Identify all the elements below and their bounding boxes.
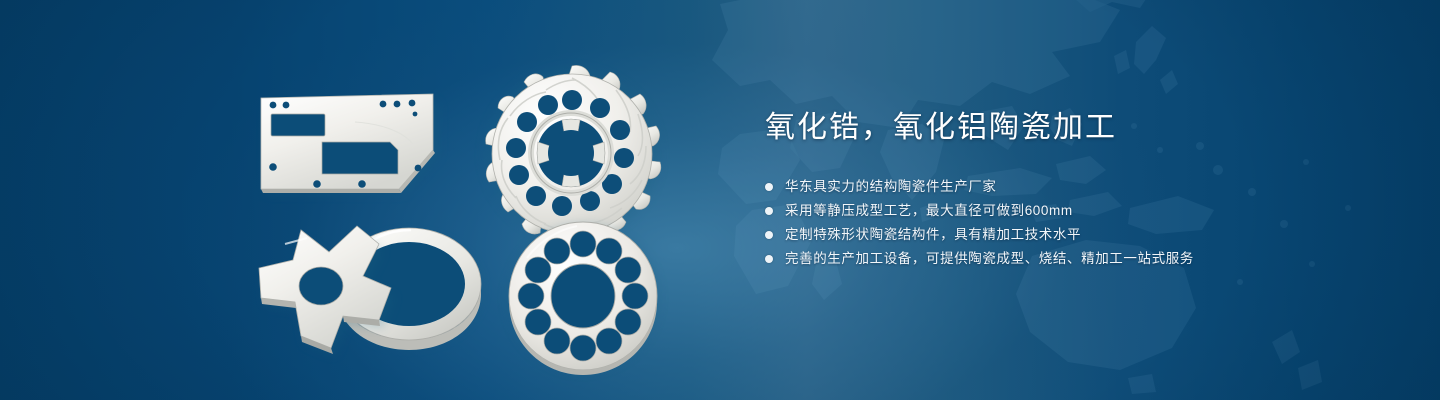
hero-banner: 氧化锆，氧化铝陶瓷加工 华东具实力的结构陶瓷件生产厂家 采用等静压成型工艺，最大… — [0, 0, 1440, 400]
page-title: 氧化锆，氧化铝陶瓷加工 — [765, 108, 1385, 147]
ceramic-plate-with-cutouts — [261, 94, 439, 194]
list-item-label: 华东具实力的结构陶瓷件生产厂家 — [785, 175, 997, 199]
list-item-label: 采用等静压成型工艺，最大直径可做到600mm — [785, 199, 1073, 223]
list-item: 定制特殊形状陶瓷结构件，具有精加工技术水平 — [765, 223, 1385, 247]
list-item: 采用等静压成型工艺，最大直径可做到600mm — [765, 199, 1385, 223]
list-item: 华东具实力的结构陶瓷件生产厂家 — [765, 175, 1385, 199]
bullet-dot-icon — [765, 255, 773, 263]
list-item-label: 完善的生产加工设备，可提供陶瓷成型、烧结、精加工一站式服务 — [785, 247, 1194, 271]
ceramic-impeller-disc — [484, 65, 661, 241]
list-item-label: 定制特殊形状陶瓷结构件，具有精加工技术水平 — [785, 223, 1081, 247]
ceramic-products-image — [235, 46, 695, 391]
feature-list: 华东具实力的结构陶瓷件生产厂家 采用等静压成型工艺，最大直径可做到600mm 定… — [765, 175, 1385, 271]
bullet-dot-icon — [765, 231, 773, 239]
bullet-dot-icon — [765, 207, 773, 215]
ceramic-perforated-disc — [507, 222, 659, 375]
banner-content: 氧化锆，氧化铝陶瓷加工 华东具实力的结构陶瓷件生产厂家 采用等静压成型工艺，最大… — [765, 108, 1385, 271]
bullet-dot-icon — [765, 183, 773, 191]
list-item: 完善的生产加工设备，可提供陶瓷成型、烧结、精加工一站式服务 — [765, 247, 1385, 271]
